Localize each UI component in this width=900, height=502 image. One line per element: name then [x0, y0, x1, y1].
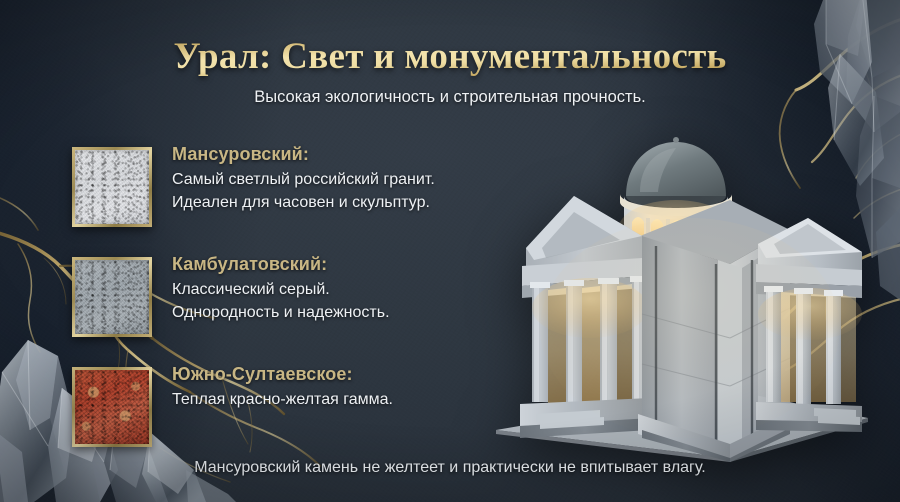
slide-root: Урал: Свет и монументальность Высокая эк… — [0, 0, 900, 502]
vignette-overlay — [0, 0, 900, 502]
